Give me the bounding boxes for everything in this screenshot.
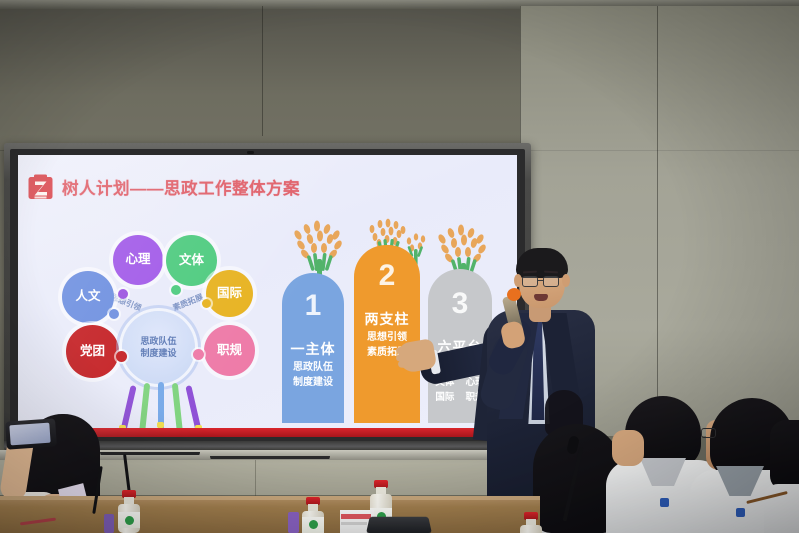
display-cable [210,456,330,462]
center-line-2: 制度建设 [140,348,176,359]
pillar-1-sub-line1: 思政队伍 [282,361,344,376]
pillar-1-sub-line2: 制度建设 [282,376,344,391]
presenter-hair [516,248,568,278]
pillar-1[interactable]: 1 一主体 思政队伍 制度建设 [282,273,344,423]
bubble-xinli[interactable]: 心理 [113,235,163,285]
slide-title: 树人计划——思政工作整体方案 [62,175,300,199]
presentation-slide[interactable]: 树人计划——思政工作整体方案 思想引领 素质拓展 人文 心理 文体 国际 党团 … [18,155,517,437]
attendee-hand [612,430,644,466]
smartphone-screen [9,423,50,446]
table-edge [0,496,540,500]
pillar-2-number: 2 [354,259,420,293]
z-logo-icon [28,174,53,201]
name-card-strip [341,522,367,525]
bubble-wenti[interactable]: 文体 [166,235,217,286]
connector-dot [109,309,119,319]
connector-dot [118,289,128,299]
pillar-1-sub: 思政队伍 制度建设 [282,361,344,390]
screenshot-stage: 树人计划——思政工作整体方案 思想引领 素质拓展 人文 心理 文体 国际 党团 … [0,0,799,533]
pillar-3-number: 3 [428,287,492,321]
presenter-finger [398,360,416,368]
display-cable [100,452,200,458]
presenter-ear [562,274,570,287]
wall-seam [262,6,263,136]
eyeglasses-bridge [538,280,544,281]
wall-seam [657,6,658,406]
connector-dot [202,299,211,308]
bubble-dangtuan[interactable]: 党团 [66,325,119,378]
pen-holder [104,514,114,533]
presenter-ear [514,274,522,287]
pillars-diagram: 1 一主体 思政队伍 制度建设 2 两支柱 思想引领 素质拓展 3 六平台 [276,215,504,423]
eyeglasses-icon [522,276,538,287]
pen-holder [288,512,299,533]
connector-dot [171,285,181,295]
center-line-1: 思政队伍 [140,336,176,347]
keyboard-icon [366,517,432,533]
display-camera-icon [247,151,254,154]
bubble-renwen[interactable]: 人文 [62,271,114,323]
connector-dot [193,349,204,360]
bubble-guoji[interactable]: 国际 [206,270,253,317]
eyeglasses-icon [701,428,716,438]
attendee-hair [770,420,799,490]
bubble-center[interactable]: 思政队伍 制度建设 [122,311,195,384]
connector-dot [116,351,127,362]
pillar-2[interactable]: 2 两支柱 思想引领 素质拓展 [354,245,420,423]
wall-seam [520,150,799,151]
bubble-zhigui[interactable]: 职规 [204,325,255,376]
conference-table [0,496,540,533]
presenter-mouth [534,294,548,301]
platform-guoji: 国际 [432,389,457,403]
bubble-tree-diagram: 思想引领 素质拓展 人文 心理 文体 国际 党团 职规 思政队伍 制度建设 [54,221,269,421]
pillar-1-heading: 一主体 [282,339,344,359]
badge-icon [736,508,745,517]
name-card-strip [341,514,371,519]
pillar-1-number: 1 [282,289,344,323]
wall-seam [255,458,256,496]
badge-icon [660,498,669,507]
eyeglasses-icon [543,276,559,287]
pillar-2-heading: 两支柱 [354,309,420,329]
